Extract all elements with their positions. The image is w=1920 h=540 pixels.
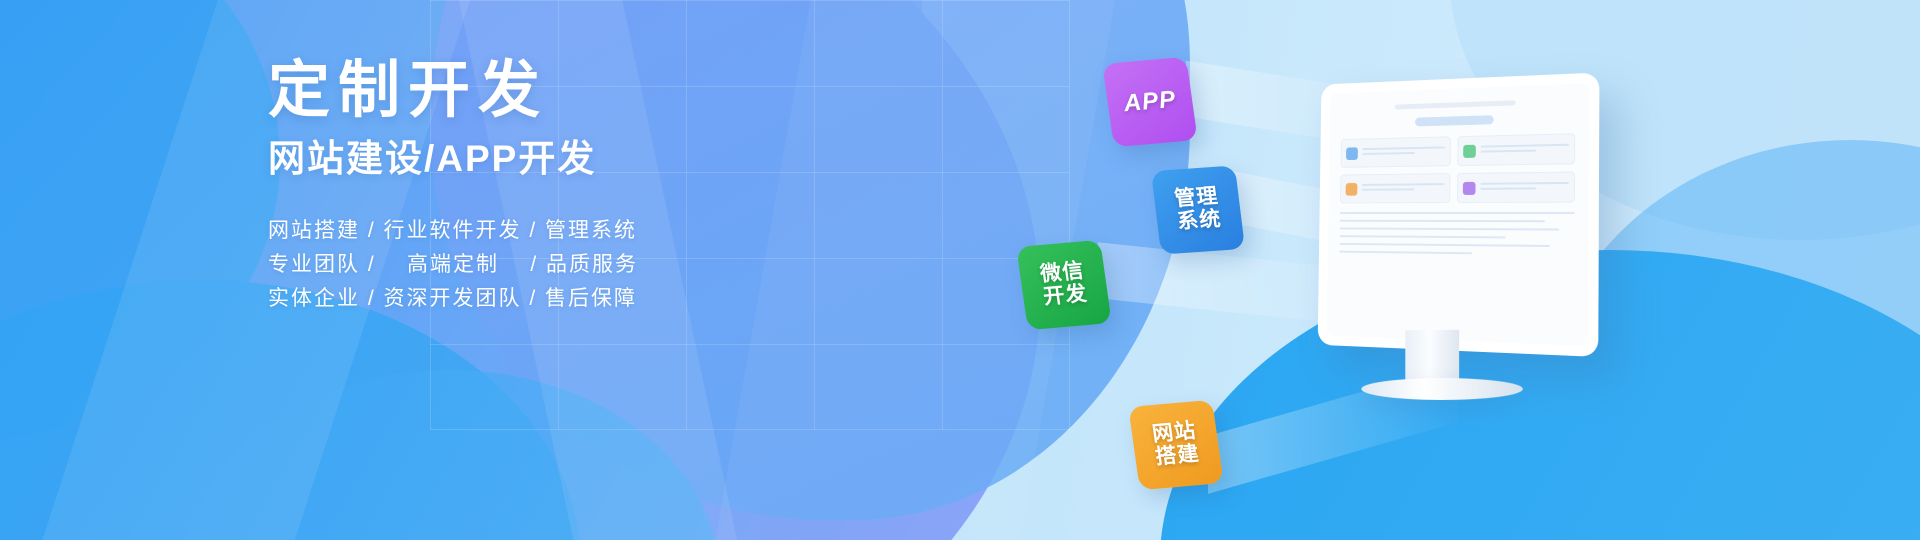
service-card-website-build[interactable]: 网站 搭建 xyxy=(1128,400,1223,491)
screen-pill-placeholder xyxy=(1415,115,1495,126)
screen-card-icon xyxy=(1346,147,1358,160)
monitor-screen xyxy=(1327,83,1589,346)
screen-body-text-placeholder xyxy=(1339,212,1574,256)
service-card-app[interactable]: APP xyxy=(1102,57,1197,148)
screen-card-lines xyxy=(1362,146,1444,157)
screen-card xyxy=(1341,136,1451,167)
screen-card-icon xyxy=(1463,144,1476,157)
page-subtitle: 网站建设/APP开发 xyxy=(268,139,828,180)
service-card-app-line1: APP xyxy=(1122,87,1178,117)
service-card-sys-line2: 系统 xyxy=(1176,208,1223,234)
banner-text-block: 定制开发 网站建设/APP开发 网站搭建 / 行业软件开发 / 管理系统 专业团… xyxy=(268,58,828,316)
screen-card-row-1 xyxy=(1341,133,1576,168)
screen-card-icon xyxy=(1346,183,1358,196)
screen-card-icon xyxy=(1462,181,1475,194)
feature-line-1: 网站搭建 / 行业软件开发 / 管理系统 xyxy=(268,214,828,248)
screen-card-row-2 xyxy=(1340,172,1575,204)
feature-line-3: 实体企业 / 资深开发团队 / 售后保障 xyxy=(268,282,828,316)
screen-card xyxy=(1340,173,1450,203)
screen-card-lines xyxy=(1480,144,1569,156)
feature-line-2: 专业团队 / 高端定制 / 品质服务 xyxy=(268,248,828,282)
monitor-illustration xyxy=(1308,78,1598,350)
service-card-web-line2: 搭建 xyxy=(1154,443,1201,469)
screen-card xyxy=(1457,133,1575,166)
service-card-wechat-development[interactable]: 微信 开发 xyxy=(1016,240,1111,331)
screen-title-placeholder xyxy=(1394,100,1516,109)
screen-card-lines xyxy=(1480,182,1569,193)
monitor-frame xyxy=(1318,73,1600,357)
screen-card xyxy=(1456,172,1575,203)
page-title: 定制开发 xyxy=(268,58,828,123)
promo-banner: 定制开发 网站建设/APP开发 网站搭建 / 行业软件开发 / 管理系统 专业团… xyxy=(0,0,1920,540)
service-card-management-system[interactable]: 管理 系统 xyxy=(1151,165,1245,254)
service-card-wx-line2: 开发 xyxy=(1042,283,1089,309)
screen-card-lines xyxy=(1362,183,1444,193)
